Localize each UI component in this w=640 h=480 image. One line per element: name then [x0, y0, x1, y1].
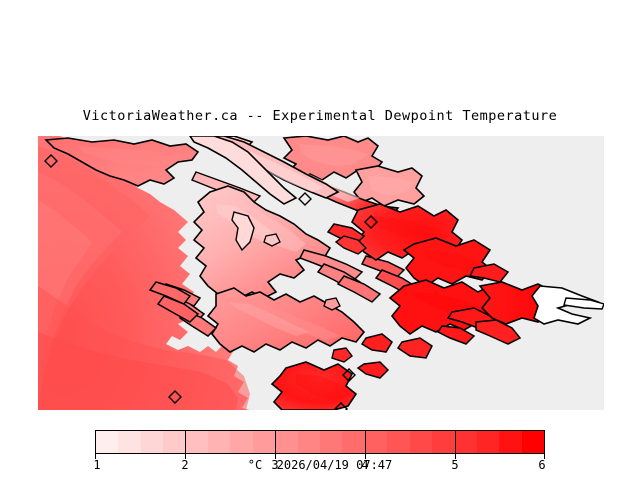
- colorbar-divider: [365, 430, 366, 454]
- colorbar-swatch-19: [522, 431, 544, 453]
- colorbar-swatch-1: [118, 431, 140, 453]
- colorbar-swatch-5: [208, 431, 230, 453]
- weather-map-page: VictoriaWeather.ca -- Experimental Dewpo…: [0, 0, 640, 480]
- colorbar-swatch-11: [342, 431, 364, 453]
- colorbar-swatch-0: [96, 431, 118, 453]
- colorbar-swatch-10: [320, 431, 342, 453]
- colorbar-swatch-13: [387, 431, 409, 453]
- colorbar-swatch-15: [432, 431, 454, 453]
- colorbar-swatch-2: [141, 431, 163, 453]
- colorbar-swatch-4: [186, 431, 208, 453]
- colorbar-swatch-12: [365, 431, 387, 453]
- dewpoint-map: [38, 136, 604, 410]
- colorbar-swatch-14: [410, 431, 432, 453]
- colorbar-swatch-17: [477, 431, 499, 453]
- colorbar-swatch-8: [275, 431, 297, 453]
- page-title: VictoriaWeather.ca -- Experimental Dewpo…: [0, 108, 640, 124]
- map-canvas: [38, 136, 604, 410]
- region-south-island: [272, 362, 356, 410]
- colorbar-divider: [455, 430, 456, 454]
- colorbar-swatch-6: [230, 431, 252, 453]
- colorbar-swatch-18: [499, 431, 521, 453]
- colorbar-swatch-3: [163, 431, 185, 453]
- colorbar-gradient: [95, 430, 545, 454]
- colorbar-swatch-9: [298, 431, 320, 453]
- colorbar-divider: [185, 430, 186, 454]
- colorbar-divider: [275, 430, 276, 454]
- colorbar-swatch-7: [253, 431, 275, 453]
- colorbar: 1 2 3 4 5 6: [95, 430, 545, 454]
- colorbar-units-timestamp: °C 2026/04/19 07:47: [0, 458, 640, 472]
- colorbar-swatch-16: [455, 431, 477, 453]
